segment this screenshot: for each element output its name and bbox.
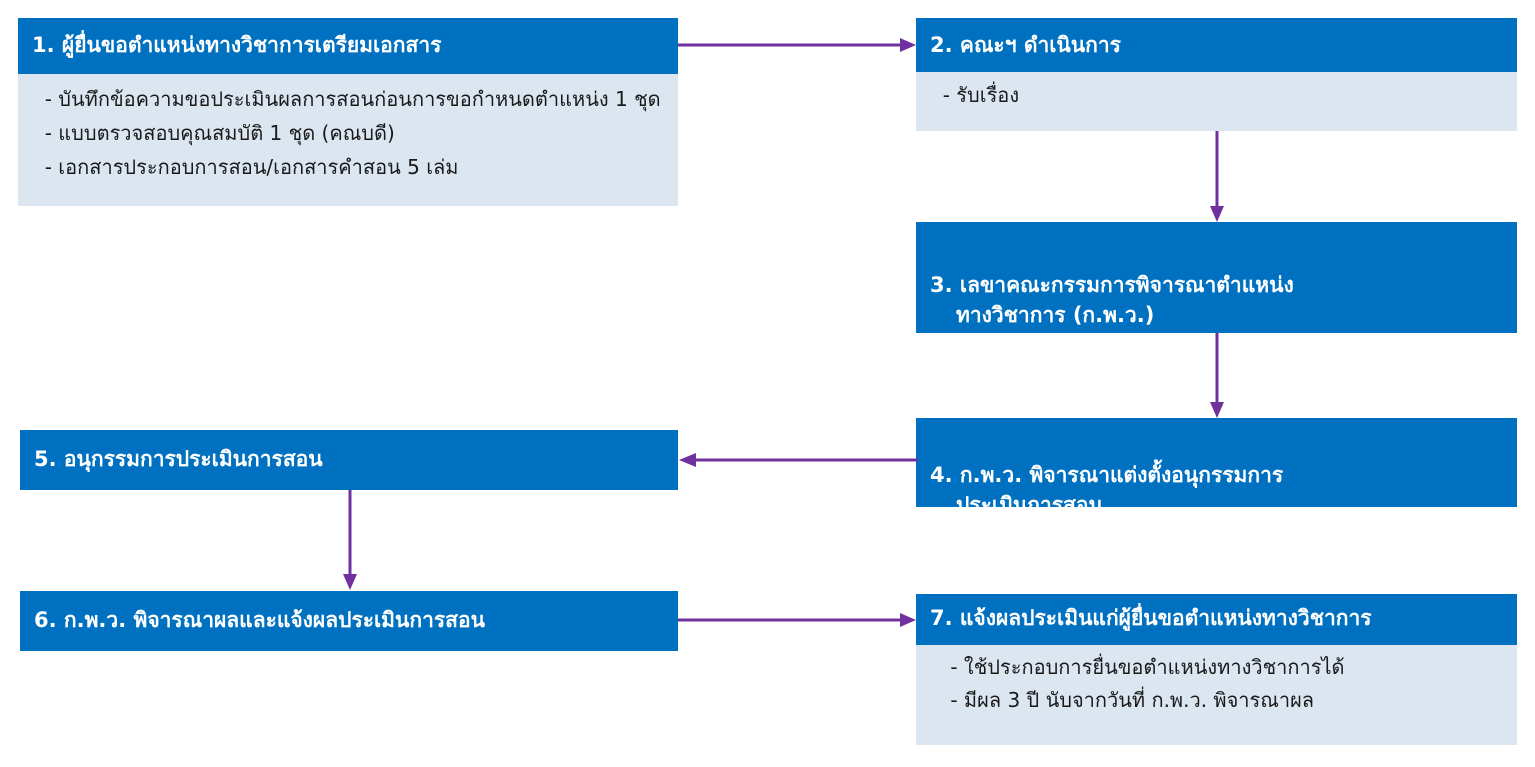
flow-node-1-body-line-2: - แบบตรวจสอบคุณสมบัติ 1 ชุด (คณบดี)	[32, 116, 664, 150]
flow-node-1[interactable]: 1. ผู้ยื่นขอตำแหน่งทางวิชาการเตรียมเอกสา…	[18, 18, 678, 206]
flow-node-6[interactable]: 6. ก.พ.ว. พิจารณาผลและแจ้งผลประเมินการสอ…	[20, 591, 678, 651]
flow-node-7-body: - ใช้ประกอบการยื่นขอตำแหน่งทางวิชาการได้…	[916, 645, 1517, 745]
flow-node-6-header: 6. ก.พ.ว. พิจารณาผลและแจ้งผลประเมินการสอ…	[20, 591, 678, 651]
arrow-node6-to-node7	[678, 611, 918, 629]
arrow-node4-to-node5	[678, 451, 918, 469]
flow-node-7-body-line-2: - มีผล 3 ปี นับจากวันที่ ก.พ.ว. พิจารณาผ…	[944, 684, 1503, 717]
flow-node-7-body-line-1: - ใช้ประกอบการยื่นขอตำแหน่งทางวิชาการได้	[944, 651, 1503, 684]
flow-node-5-header: 5. อนุกรรมการประเมินการสอน	[20, 430, 678, 490]
flow-node-2-body-line-1: - รับเรื่อง	[930, 78, 1503, 112]
flow-node-3-header-line-1: 3. เลขาคณะกรรมการพิจารณาตำแหน่ง	[930, 273, 1294, 297]
flow-node-1-body-line-1: - บันทึกข้อความขอประเมินผลการสอนก่อนการข…	[32, 82, 664, 116]
arrow-node1-to-node2	[678, 36, 918, 54]
flow-node-4[interactable]: 4. ก.พ.ว. พิจารณาแต่งตั้งอนุกรรมการ ประเ…	[916, 418, 1517, 507]
flow-node-4-header-line-2: ประเมินการสอน	[930, 490, 1503, 520]
flow-node-7[interactable]: 7. แจ้งผลประเมินแก่ผู้ยื่นขอตำแหน่งทางวิ…	[916, 594, 1517, 745]
flow-node-1-header: 1. ผู้ยื่นขอตำแหน่งทางวิชาการเตรียมเอกสา…	[18, 18, 678, 74]
arrow-node5-to-node6	[341, 490, 359, 591]
flow-node-7-header: 7. แจ้งผลประเมินแก่ผู้ยื่นขอตำแหน่งทางวิ…	[916, 594, 1517, 645]
flow-node-2-header: 2. คณะฯ ดำเนินการ	[916, 18, 1517, 72]
flow-node-3[interactable]: 3. เลขาคณะกรรมการพิจารณาตำแหน่ง ทางวิชาก…	[916, 222, 1517, 333]
flow-node-1-body-line-3: - เอกสารประกอบการสอน/เอกสารคำสอน 5 เล่ม	[32, 150, 664, 184]
flow-node-4-header-line-1: 4. ก.พ.ว. พิจารณาแต่งตั้งอนุกรรมการ	[930, 463, 1283, 487]
flow-node-2[interactable]: 2. คณะฯ ดำเนินการ - รับเรื่อง	[916, 18, 1517, 131]
flowchart-canvas: 1. ผู้ยื่นขอตำแหน่งทางวิชาการเตรียมเอกสา…	[0, 0, 1535, 767]
arrow-node3-to-node4	[1208, 333, 1226, 419]
flow-node-3-header: 3. เลขาคณะกรรมการพิจารณาตำแหน่ง ทางวิชาก…	[916, 222, 1517, 333]
flow-node-1-body: - บันทึกข้อความขอประเมินผลการสอนก่อนการข…	[18, 74, 678, 206]
flow-node-5[interactable]: 5. อนุกรรมการประเมินการสอน	[20, 430, 678, 490]
arrow-node2-to-node3	[1208, 131, 1226, 223]
flow-node-3-header-line-2: ทางวิชาการ (ก.พ.ว.)	[930, 300, 1503, 330]
flow-node-2-body: - รับเรื่อง	[916, 72, 1517, 131]
flow-node-4-header: 4. ก.พ.ว. พิจารณาแต่งตั้งอนุกรรมการ ประเ…	[916, 418, 1517, 507]
